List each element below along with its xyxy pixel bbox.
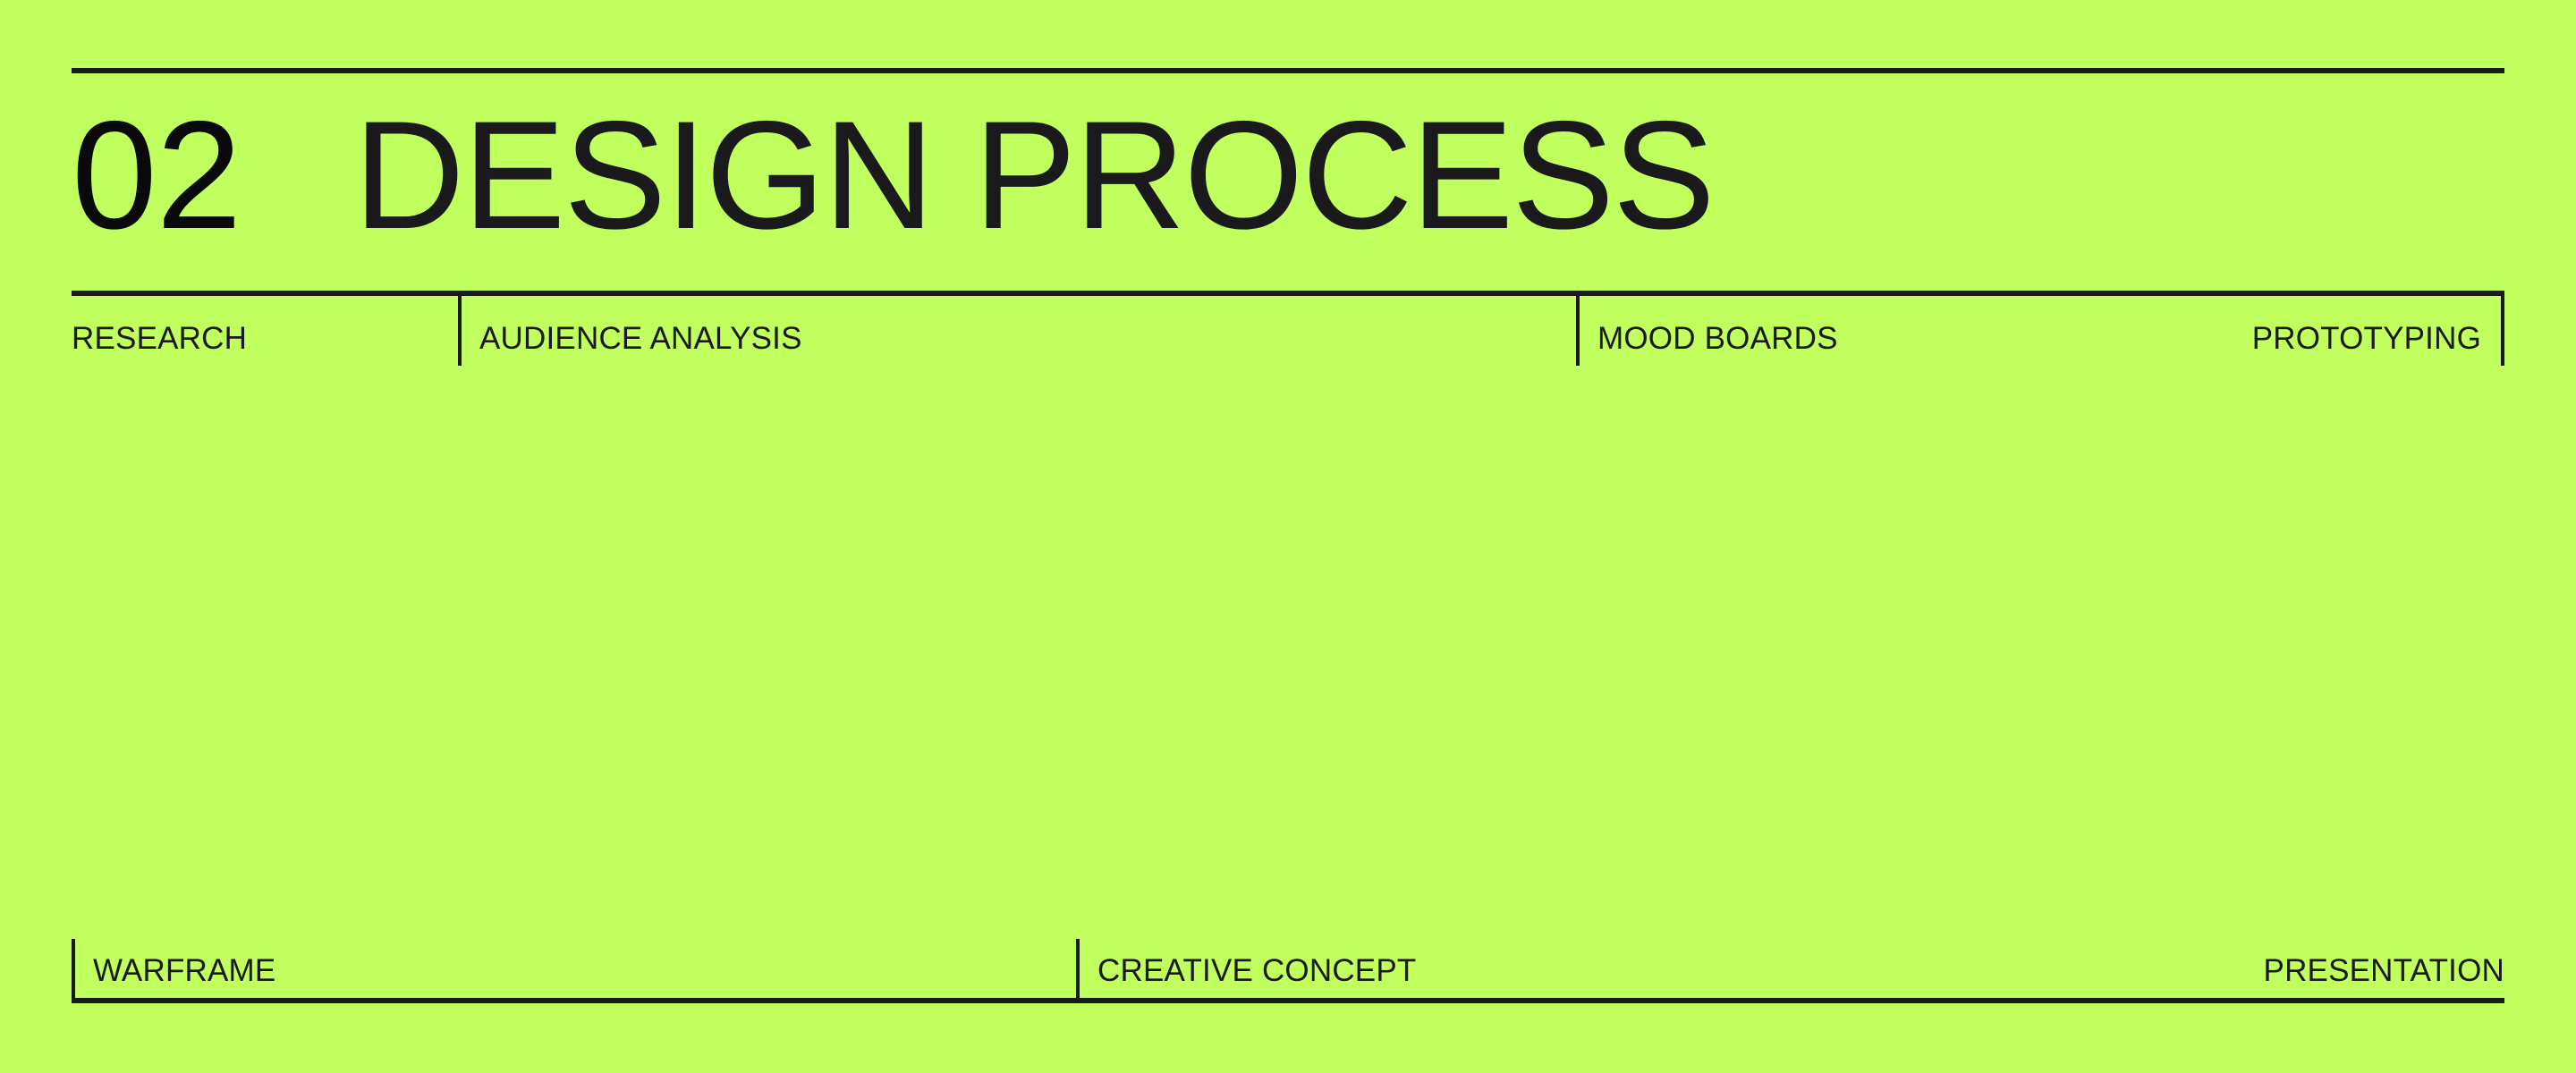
tag-label-mood-boards: MOOD BOARDS xyxy=(1597,288,1838,374)
tag-item-presentation[interactable]: PRESENTATION xyxy=(2264,939,2504,998)
tag-label-warframe: WARFRAME xyxy=(93,936,275,1001)
tag-label-creative-concept: CREATIVE CONCEPT xyxy=(1097,936,1416,1001)
slide-canvas: 02 DESIGN PROCESS RESEARCH AUDIENCE ANAL… xyxy=(0,0,2576,1073)
tag-item-mood-boards[interactable]: MOOD BOARDS xyxy=(1576,296,2252,366)
process-tags-top: RESEARCH AUDIENCE ANALYSIS MOOD BOARDS P… xyxy=(72,291,2504,360)
section-header: 02 DESIGN PROCESS xyxy=(72,86,2504,265)
tag-item-warframe[interactable]: WARFRAME xyxy=(72,939,1076,998)
header-top-rule xyxy=(72,68,2504,73)
tag-label-research: RESEARCH xyxy=(72,288,247,374)
tag-item-audience-analysis[interactable]: AUDIENCE ANALYSIS xyxy=(458,296,1576,366)
tag-label-audience-analysis: AUDIENCE ANALYSIS xyxy=(479,288,802,374)
tag-item-creative-concept[interactable]: CREATIVE CONCEPT xyxy=(1076,939,2264,998)
page-title: DESIGN PROCESS xyxy=(353,86,1713,265)
tag-item-prototyping[interactable]: PROTOTYPING xyxy=(2252,296,2504,366)
tag-label-prototyping: PROTOTYPING xyxy=(2252,288,2481,374)
section-number: 02 xyxy=(72,86,241,265)
process-tags-bottom: WARFRAME CREATIVE CONCEPT PRESENTATION xyxy=(72,939,2504,1003)
tag-label-presentation: PRESENTATION xyxy=(2264,936,2504,1001)
tag-item-research[interactable]: RESEARCH xyxy=(72,296,458,366)
